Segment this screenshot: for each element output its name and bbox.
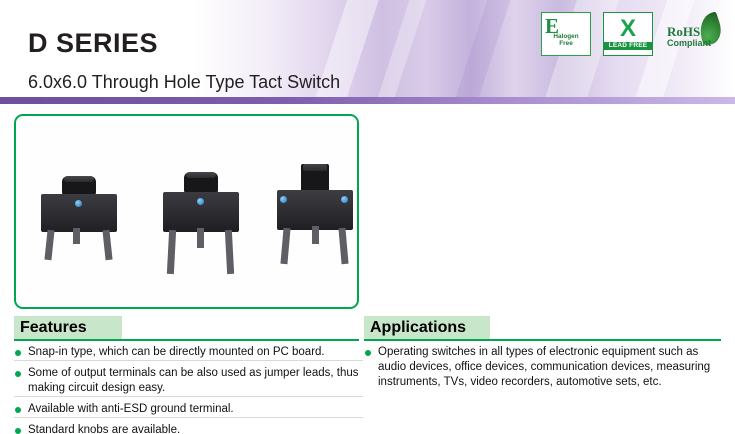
list-item: Snap-in type, which can be directly moun… bbox=[14, 345, 363, 361]
features-list: Snap-in type, which can be directly moun… bbox=[14, 345, 363, 434]
applications-list: Operating switches in all types of elect… bbox=[364, 345, 724, 395]
list-item: Operating switches in all types of elect… bbox=[364, 345, 724, 390]
switch-lead bbox=[167, 230, 176, 274]
switch-lead bbox=[197, 228, 204, 248]
switch-plunger-dot bbox=[197, 198, 204, 205]
product-image-panel bbox=[14, 114, 359, 309]
bullet-icon bbox=[15, 350, 21, 356]
page-header: D SERIES 6.0x6.0 Through Hole Type Tact … bbox=[0, 0, 735, 104]
features-heading: Features bbox=[14, 319, 87, 337]
features-heading-rule bbox=[14, 339, 359, 341]
switch-knob-highlight bbox=[64, 176, 94, 182]
applications-heading-rule bbox=[364, 339, 721, 341]
rohs-label-line1: RoHS bbox=[667, 25, 700, 39]
banner-streak bbox=[363, 0, 437, 104]
bullet-icon bbox=[15, 371, 21, 377]
page-title: D SERIES bbox=[28, 28, 158, 59]
switch-plunger-dot bbox=[280, 196, 287, 203]
datasheet-page: D SERIES 6.0x6.0 Through Hole Type Tact … bbox=[0, 0, 735, 434]
list-item-text: Snap-in type, which can be directly moun… bbox=[28, 346, 325, 358]
switch-knob-highlight bbox=[303, 164, 327, 171]
switch-lead bbox=[338, 228, 348, 264]
bullet-icon bbox=[15, 428, 21, 434]
lead-free-x-mark: X bbox=[620, 18, 636, 40]
switch-lead bbox=[225, 230, 234, 274]
list-item-text: Available with anti-ESD ground terminal. bbox=[28, 403, 234, 415]
bullet-icon bbox=[365, 350, 371, 356]
compliance-logo-group: E Halogen Free X LEAD FREE RoHS Complian… bbox=[541, 12, 721, 56]
applications-heading-band: Applications bbox=[364, 316, 490, 339]
halogen-free-label-line2: Free bbox=[553, 41, 578, 48]
lead-free-icon: X LEAD FREE bbox=[603, 12, 653, 56]
switch-lead bbox=[102, 230, 112, 261]
applications-heading: Applications bbox=[364, 319, 466, 337]
list-item-text: Operating switches in all types of elect… bbox=[378, 346, 710, 388]
switch-plunger-dot bbox=[75, 200, 82, 207]
banner-streak bbox=[441, 0, 521, 104]
features-heading-band: Features bbox=[14, 316, 122, 339]
list-item: Available with anti-ESD ground terminal. bbox=[14, 402, 363, 418]
switch-knob-highlight bbox=[186, 172, 216, 178]
halogen-e-mark: E bbox=[545, 15, 559, 37]
switch-lead bbox=[312, 226, 319, 244]
page-subtitle: 6.0x6.0 Through Hole Type Tact Switch bbox=[28, 72, 340, 93]
list-item-text: Standard knobs are available. bbox=[28, 424, 180, 434]
rohs-compliant-icon: RoHS Compliant bbox=[665, 12, 721, 56]
list-item: Standard knobs are available. bbox=[14, 423, 363, 434]
switch-lead bbox=[44, 230, 54, 261]
switch-lead bbox=[280, 228, 290, 264]
switch-lead bbox=[73, 228, 80, 244]
switch-plunger-dot bbox=[341, 196, 348, 203]
lead-free-label: LEAD FREE bbox=[604, 42, 652, 51]
list-item-text: Some of output terminals can be also use… bbox=[28, 367, 359, 394]
list-item: Some of output terminals can be also use… bbox=[14, 366, 363, 397]
rohs-label-line2: Compliant bbox=[667, 39, 711, 48]
halogen-free-icon: E Halogen Free bbox=[541, 12, 591, 56]
bullet-icon bbox=[15, 407, 21, 413]
